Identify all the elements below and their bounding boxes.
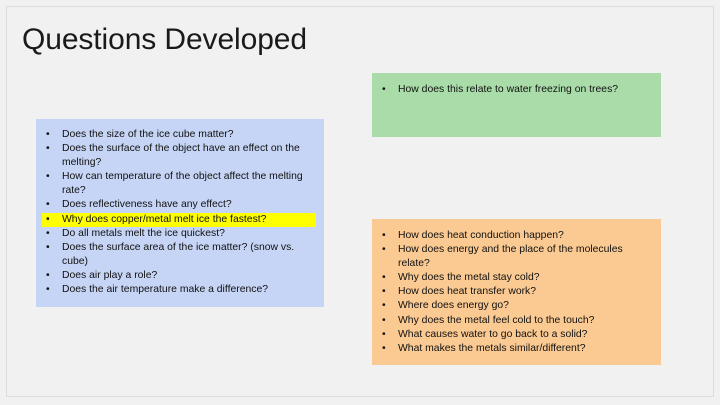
bullet-icon: • xyxy=(46,213,50,227)
list-item-label: How can temperature of the object affect… xyxy=(62,171,303,196)
list-item: •Where does energy go? xyxy=(372,299,653,313)
bullet-icon: • xyxy=(46,128,50,142)
bullet-icon: • xyxy=(382,299,386,313)
bullet-icon: • xyxy=(46,269,50,283)
bullet-icon: • xyxy=(382,285,386,299)
list-item-label: Does the size of the ice cube matter? xyxy=(62,129,234,140)
list-item: •How does energy and the place of the mo… xyxy=(372,243,653,271)
bullet-icon: • xyxy=(382,342,386,356)
list-item-label: Does the surface of the object have an e… xyxy=(62,143,300,168)
list-item: •Does the surface of the object have an … xyxy=(36,142,316,170)
bullet-icon: • xyxy=(382,83,386,97)
list-item-label: What causes water to go back to a solid? xyxy=(398,329,587,340)
bullet-icon: • xyxy=(46,170,50,184)
bullet-icon: • xyxy=(46,198,50,212)
bullet-icon: • xyxy=(46,142,50,156)
list-item-highlighted: •Why does copper/metal melt ice the fast… xyxy=(36,213,316,227)
bullet-icon: • xyxy=(382,328,386,342)
list-item-label: Does reflectiveness have any effect? xyxy=(62,199,232,210)
blue-question-box[interactable]: •Does the size of the ice cube matter?•D… xyxy=(36,119,324,307)
list-item: •How can temperature of the object affec… xyxy=(36,170,316,198)
orange-question-box[interactable]: •How does heat conduction happen?•How do… xyxy=(372,219,661,365)
bullet-icon: • xyxy=(382,314,386,328)
list-item: •Does the air temperature make a differe… xyxy=(36,283,316,297)
list-item-label: How does heat transfer work? xyxy=(398,286,536,297)
bullet-icon: • xyxy=(46,283,50,297)
page-title: Questions Developed xyxy=(22,22,307,58)
list-item: •Does the surface area of the ice matter… xyxy=(36,241,316,269)
blue-question-list: •Does the size of the ice cube matter?•D… xyxy=(36,128,316,297)
bullet-icon: • xyxy=(46,241,50,255)
list-item: •What makes the metals similar/different… xyxy=(372,342,653,356)
list-item: •Does air play a role? xyxy=(36,269,316,283)
list-item-label: How does this relate to water freezing o… xyxy=(398,84,618,95)
green-question-list: •How does this relate to water freezing … xyxy=(372,83,653,97)
list-item: •How does this relate to water freezing … xyxy=(372,83,653,97)
list-item: •Why does the metal feel cold to the tou… xyxy=(372,314,653,328)
list-item-label: Where does energy go? xyxy=(398,300,509,311)
list-item-label: Does the surface area of the ice matter?… xyxy=(62,242,294,267)
list-item-label: How does energy and the place of the mol… xyxy=(398,244,623,269)
list-item-label: Why does the metal feel cold to the touc… xyxy=(398,315,594,326)
list-item-label: Why does the metal stay cold? xyxy=(398,272,540,283)
list-item-label: Does the air temperature make a differen… xyxy=(62,284,268,295)
orange-question-list: •How does heat conduction happen?•How do… xyxy=(372,229,653,356)
list-item: •Why does the metal stay cold? xyxy=(372,271,653,285)
list-item-label: Does air play a role? xyxy=(62,270,157,281)
list-item: •What causes water to go back to a solid… xyxy=(372,328,653,342)
list-item: •Does reflectiveness have any effect? xyxy=(36,198,316,212)
list-item: •Does the size of the ice cube matter? xyxy=(36,128,316,142)
presentation-slide: Questions Developed •Does the size of th… xyxy=(0,0,720,405)
bullet-icon: • xyxy=(382,229,386,243)
list-item-label: Why does copper/metal melt ice the faste… xyxy=(62,214,266,225)
list-item: •How does heat transfer work? xyxy=(372,285,653,299)
list-item-label: What makes the metals similar/different? xyxy=(398,343,586,354)
bullet-icon: • xyxy=(46,227,50,241)
bullet-icon: • xyxy=(382,243,386,257)
green-question-box[interactable]: •How does this relate to water freezing … xyxy=(372,73,661,137)
list-item: •Do all metals melt the ice quickest? xyxy=(36,227,316,241)
list-item-label: Do all metals melt the ice quickest? xyxy=(62,228,225,239)
bullet-icon: • xyxy=(382,271,386,285)
list-item: •How does heat conduction happen? xyxy=(372,229,653,243)
list-item-label: How does heat conduction happen? xyxy=(398,230,564,241)
